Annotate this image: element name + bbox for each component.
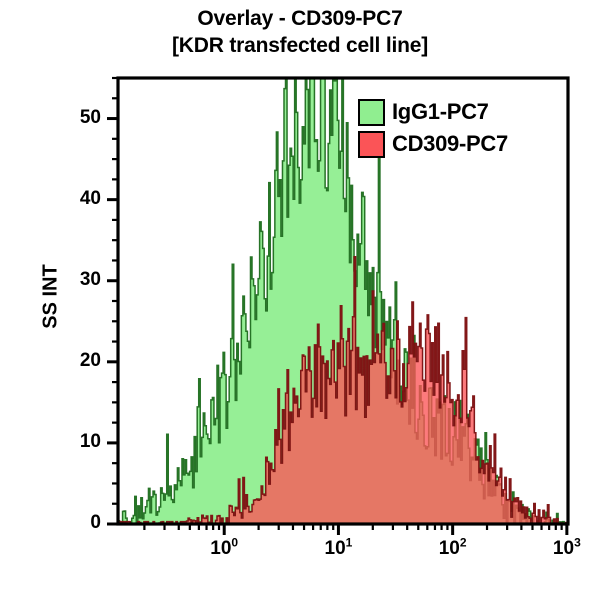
y-tick-label-10: 10 [41,431,101,453]
legend-item-igg1[interactable]: IgG1-PC7 [358,96,508,128]
flow-cytometry-histogram-figure: Overlay - CD309-PC7 [KDR transfected cel… [0,0,600,600]
y-axis-label: SS INT [40,237,63,357]
y-tick-label-50: 50 [41,107,101,129]
x-tick-label-1e0: 100 [189,538,259,560]
x-tick-label-1e1: 101 [303,538,373,560]
x-tick-label-1e3: 103 [532,538,600,560]
legend: IgG1-PC7 CD309-PC7 [358,96,508,160]
legend-swatch-cd309 [358,131,385,158]
x-tick-label-1e2: 102 [418,538,488,560]
legend-swatch-igg1 [358,99,385,126]
plot-canvas [0,0,600,600]
y-tick-label-0: 0 [41,512,101,534]
y-axis-ticks [107,78,118,524]
x-axis-ticks [144,524,566,535]
y-tick-label-40: 40 [41,188,101,210]
legend-label-igg1: IgG1-PC7 [392,99,489,125]
legend-label-cd309: CD309-PC7 [392,131,508,157]
y-tick-label-20: 20 [41,350,101,372]
legend-item-cd309[interactable]: CD309-PC7 [358,128,508,160]
y-tick-label-30: 30 [41,269,101,291]
